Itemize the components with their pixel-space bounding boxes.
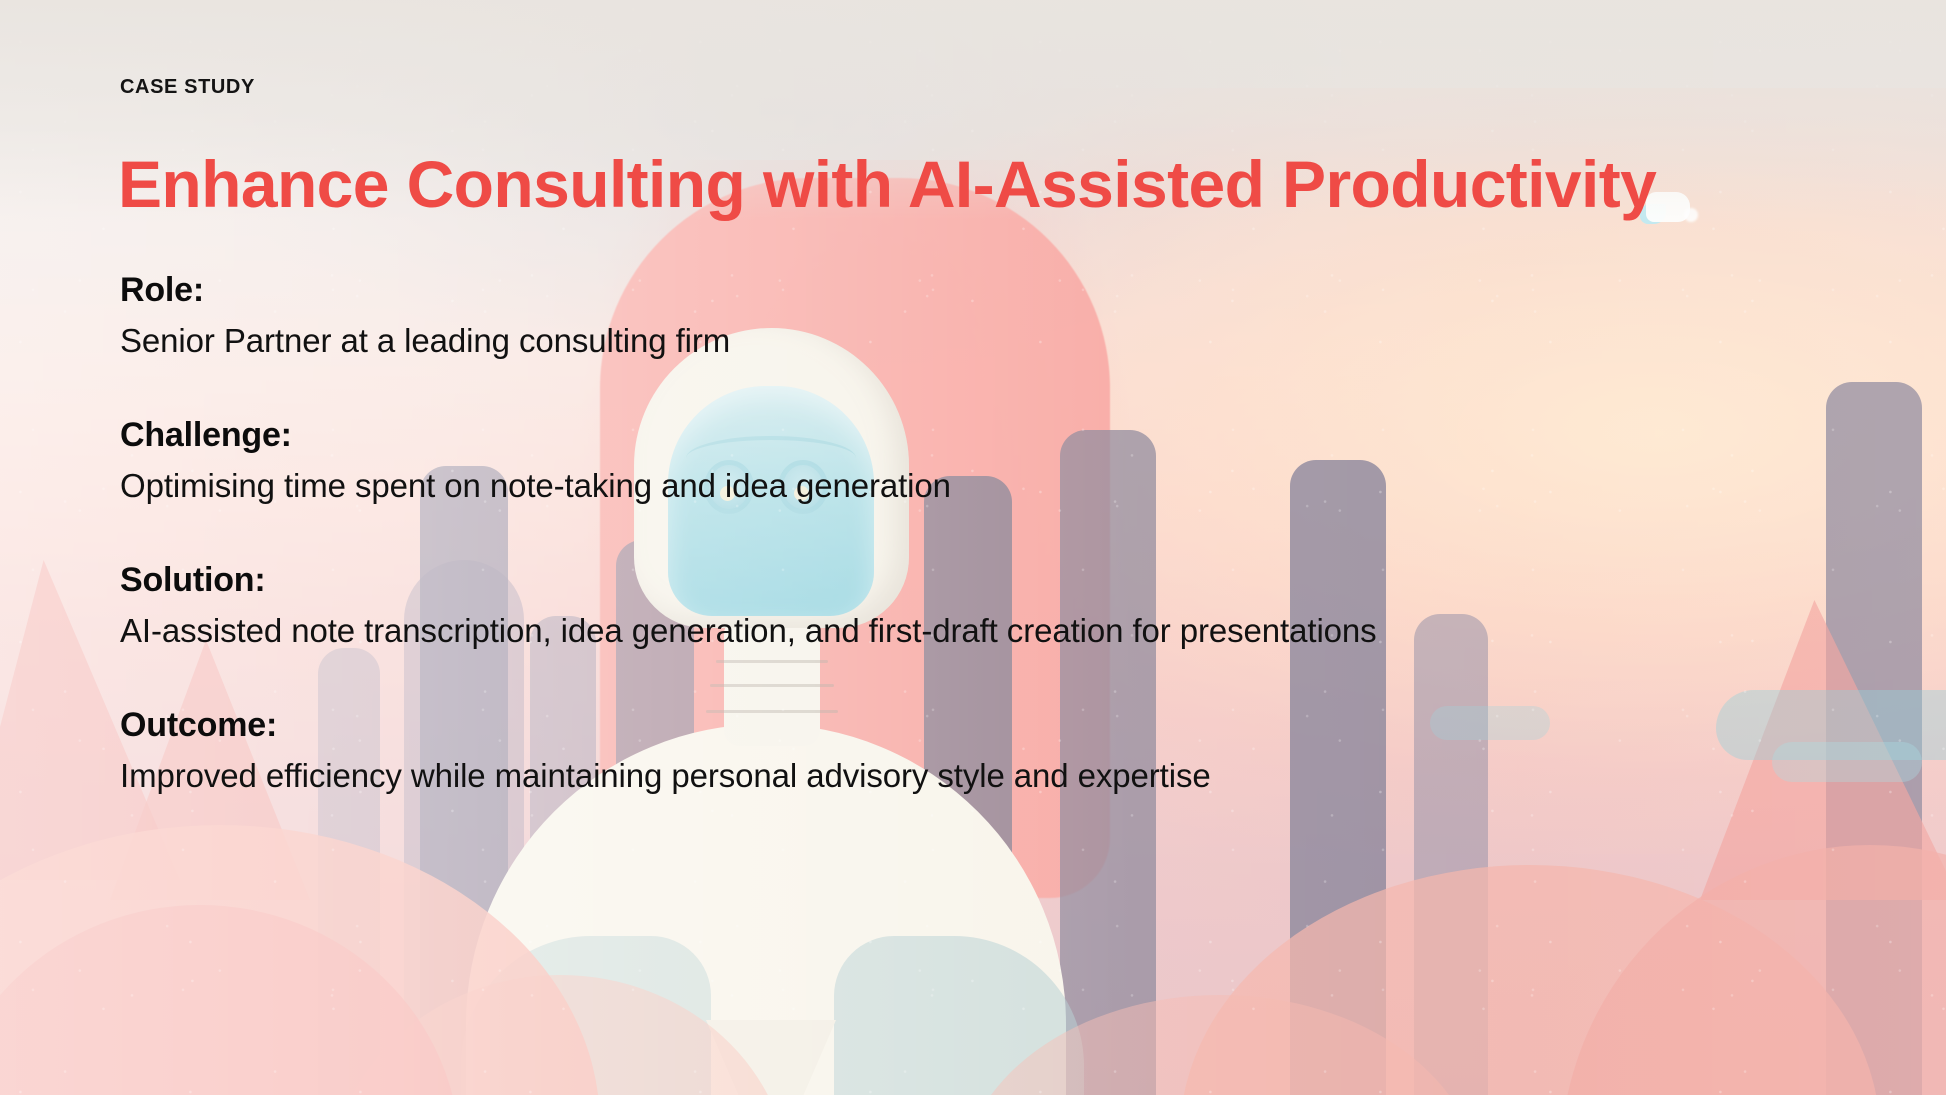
detail-block-role: Role: Senior Partner at a leading consul…: [120, 268, 1886, 363]
block-value: AI-assisted note transcription, idea gen…: [120, 609, 1886, 653]
detail-block-challenge: Challenge: Optimising time spent on note…: [120, 413, 1886, 508]
block-value: Optimising time spent on note-taking and…: [120, 464, 1886, 508]
block-label: Role:: [120, 268, 1886, 313]
block-value: Improved efficiency while maintaining pe…: [120, 754, 1886, 798]
page-title: Enhance Consulting with AI-Assisted Prod…: [118, 150, 1866, 220]
block-label: Challenge:: [120, 413, 1886, 458]
eyebrow-label: CASE STUDY: [120, 76, 255, 99]
detail-block-solution: Solution: AI-assisted note transcription…: [120, 558, 1886, 653]
case-study-slide: CASE STUDY Enhance Consulting with AI-As…: [0, 0, 1946, 1095]
detail-block-outcome: Outcome: Improved efficiency while maint…: [120, 703, 1886, 798]
block-value: Senior Partner at a leading consulting f…: [120, 319, 1886, 363]
block-label: Solution:: [120, 558, 1886, 603]
detail-blocks: Role: Senior Partner at a leading consul…: [120, 268, 1886, 798]
block-label: Outcome:: [120, 703, 1886, 748]
slide-content: CASE STUDY Enhance Consulting with AI-As…: [0, 0, 1946, 1095]
